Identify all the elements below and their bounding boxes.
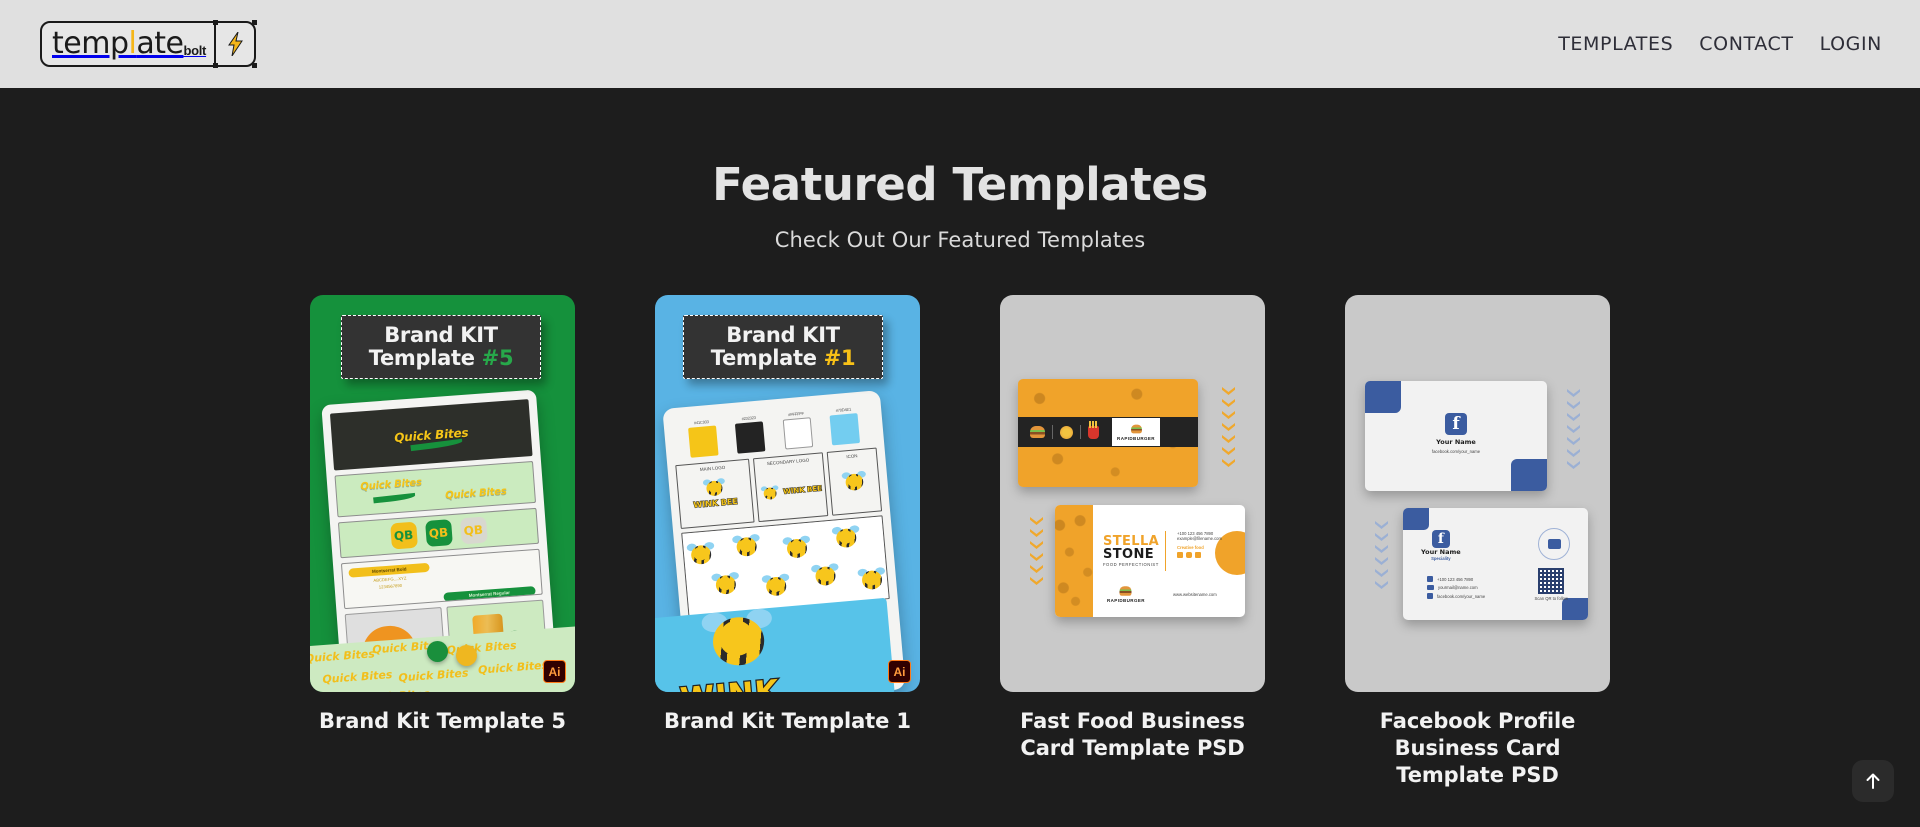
brand-name-variant-a: Quick Bites bbox=[360, 477, 422, 492]
bee-icon bbox=[701, 611, 776, 671]
template-thumbnail-brand-kit-1[interactable]: #41C933 #232323 #FFFFFF #70D4E1 bbox=[655, 295, 920, 692]
website-url: www.websitename.com bbox=[1173, 592, 1217, 597]
social-label: Creative food bbox=[1177, 545, 1222, 550]
typography-row: Montserrat Bold ABCDEFG....XYZ 123456789… bbox=[341, 549, 543, 609]
brand-logo-box: RAPIDBURGER bbox=[1112, 418, 1160, 446]
kit-plate-line1: Brand KIT bbox=[348, 324, 534, 347]
business-card-front: f Your Name facebook.com/your_name bbox=[1365, 381, 1547, 491]
chevron-column-up bbox=[1030, 517, 1043, 585]
template-card-grid: Quick Bites Quick Bites Quick Bites QB Q… bbox=[0, 295, 1920, 789]
twitter-icon bbox=[1195, 552, 1201, 558]
template-thumbnail-fast-food-card[interactable]: RAPIDBURGER STELLA STONE FOOD PERFECTION… bbox=[1000, 295, 1265, 692]
bee-icon bbox=[703, 479, 726, 498]
facebook-icon bbox=[1427, 593, 1433, 599]
front-handle: facebook.com/your_name bbox=[1432, 449, 1480, 454]
pattern-word: Quick Bites bbox=[359, 687, 430, 692]
logo-subscript: bolt bbox=[183, 43, 206, 58]
blanket-brand-word: WINK bbox=[679, 673, 781, 692]
color-dot-gold bbox=[456, 645, 477, 666]
icon-box: ICON bbox=[826, 448, 882, 516]
burger-icon bbox=[1030, 426, 1045, 438]
page-title: Featured Templates bbox=[0, 158, 1920, 211]
kit-plate-line2: Template bbox=[369, 346, 482, 370]
logo-text-part1: temp bbox=[52, 26, 129, 61]
brand-name-main: WINK BEE bbox=[693, 497, 738, 510]
logo-wordmark: template bbox=[52, 29, 185, 59]
facebook-icon: f bbox=[1432, 530, 1450, 548]
lightning-bolt-icon bbox=[214, 23, 254, 65]
brand-name: RAPIDBURGER bbox=[1117, 436, 1155, 441]
email-address: example@filename.com bbox=[1177, 536, 1222, 541]
bee-icon bbox=[761, 485, 780, 500]
back-social: facebook.com/your_name bbox=[1437, 594, 1485, 599]
back-phone: +100 123 456 7890 bbox=[1437, 577, 1473, 582]
back-role: Speciality bbox=[1431, 556, 1451, 561]
pattern-word: Quick Bites bbox=[478, 659, 549, 677]
template-card[interactable]: f Your Name facebook.com/your_name f You… bbox=[1345, 295, 1610, 789]
logo-mark-tile-green: QB bbox=[425, 519, 453, 547]
color-swatch: #70D4E1 bbox=[829, 406, 860, 445]
adobe-illustrator-badge: Ai bbox=[543, 660, 566, 683]
front-name: Your Name bbox=[1436, 438, 1476, 446]
logo-mark-tile-gray: QB bbox=[459, 517, 487, 545]
facebook-icon bbox=[1177, 552, 1183, 558]
person-role: FOOD PERFECTIONIST bbox=[1103, 562, 1159, 567]
chevron-column-down bbox=[1567, 389, 1580, 469]
adobe-illustrator-badge: Ai bbox=[888, 660, 911, 683]
template-thumbnail-facebook-card[interactable]: f Your Name facebook.com/your_name f You… bbox=[1345, 295, 1610, 692]
secondary-logo-label: SECONDARY LOGO bbox=[754, 456, 822, 467]
kit-plate-line1: Brand KIT bbox=[690, 324, 876, 347]
kit-plate-line2: Template bbox=[711, 346, 824, 370]
template-card[interactable]: RAPIDBURGER STELLA STONE FOOD PERFECTION… bbox=[1000, 295, 1265, 789]
brand-name-variant-b: Quick Bites bbox=[445, 486, 507, 501]
kit-plate-number: #1 bbox=[824, 346, 856, 370]
main-navigation: TEMPLATES CONTACT LOGIN bbox=[1558, 33, 1882, 55]
chevron-column-down bbox=[1222, 387, 1235, 467]
pattern-word: Quick Bites bbox=[310, 647, 375, 665]
color-swatch: #FFFFFF bbox=[782, 410, 813, 449]
leaf-swoosh-icon bbox=[373, 493, 415, 504]
brand-kit-title-plate: Brand KIT Template #5 bbox=[341, 315, 541, 379]
nav-link-templates[interactable]: TEMPLATES bbox=[1558, 33, 1673, 55]
accent-square bbox=[1562, 598, 1588, 620]
logo-variants-row: Quick Bites Quick Bites bbox=[334, 461, 536, 517]
camera-icon bbox=[1548, 539, 1561, 549]
bee-icon bbox=[841, 471, 867, 492]
person-last-name: STONE bbox=[1103, 548, 1159, 562]
qr-caption: Scan QR to follow bbox=[1534, 596, 1568, 601]
mail-icon bbox=[1427, 585, 1434, 590]
nav-link-login[interactable]: LOGIN bbox=[1820, 33, 1882, 55]
fries-icon bbox=[1088, 426, 1099, 439]
back-email: yourmail@name.com bbox=[1438, 585, 1478, 590]
pattern-word: Quick Bites bbox=[398, 666, 469, 684]
phone-icon bbox=[1427, 576, 1433, 582]
business-card-back: f Your Name Speciality +100 123 456 7890… bbox=[1403, 508, 1588, 620]
template-card-title: Brand Kit Template 1 bbox=[655, 708, 920, 735]
hero-banner-row: Quick Bites bbox=[330, 399, 533, 470]
pizza-icon bbox=[1060, 426, 1073, 439]
template-card-title: Fast Food Business Card Template PSD bbox=[1000, 708, 1265, 762]
business-card-back: RAPIDBURGER bbox=[1018, 379, 1198, 487]
secondary-logo-box: SECONDARY LOGO WINK BEE bbox=[753, 452, 828, 522]
template-card[interactable]: #41C933 #232323 #FFFFFF #70D4E1 bbox=[655, 295, 920, 789]
logo-text-part2: ate bbox=[136, 26, 183, 61]
template-card-title: Brand Kit Template 5 bbox=[310, 708, 575, 735]
burger-icon bbox=[1131, 425, 1142, 434]
photo-placeholder bbox=[1538, 528, 1570, 560]
template-card[interactable]: Quick Bites Quick Bites Quick Bites QB Q… bbox=[310, 295, 575, 789]
color-swatch: #232323 bbox=[735, 414, 766, 453]
brand-name: RAPIDBURGER bbox=[1107, 598, 1145, 603]
nav-link-contact[interactable]: CONTACT bbox=[1699, 33, 1793, 55]
chevron-column-up bbox=[1375, 521, 1388, 589]
pattern-word: Quick Bites bbox=[322, 668, 393, 686]
facebook-icon: f bbox=[1445, 413, 1467, 435]
brand-name-secondary: WINK BEE bbox=[783, 484, 823, 495]
icon-box-label: ICON bbox=[828, 452, 877, 461]
burger-icon bbox=[1120, 586, 1132, 596]
template-card-title: Facebook Profile Business Card Template … bbox=[1345, 708, 1610, 789]
template-thumbnail-brand-kit-5[interactable]: Quick Bites Quick Bites Quick Bites QB Q… bbox=[310, 295, 575, 692]
back-name: Your Name bbox=[1421, 548, 1461, 556]
brand-kit-title-plate: Brand KIT Template #1 bbox=[683, 315, 883, 379]
kit-plate-number: #5 bbox=[482, 346, 514, 370]
color-swatch: #41C933 bbox=[687, 419, 718, 458]
page-subtitle: Check Out Our Featured Templates bbox=[0, 228, 1920, 252]
logo-mark-tile-gold: QB bbox=[390, 522, 418, 550]
font-chip-secondary: Montserrat Regular bbox=[443, 586, 536, 602]
scroll-to-top-button[interactable] bbox=[1852, 760, 1894, 802]
accent-square bbox=[1403, 508, 1429, 530]
main-logo-label: MAIN LOGO bbox=[677, 463, 749, 474]
site-header: template bolt TEMPLATES CONTACT LOGIN bbox=[0, 0, 1920, 88]
accent-square bbox=[1365, 381, 1401, 413]
accent-square bbox=[1511, 459, 1547, 491]
business-card-front: STELLA STONE FOOD PERFECTIONIST +100 123… bbox=[1055, 505, 1245, 617]
site-logo[interactable]: template bolt bbox=[40, 21, 256, 67]
qr-code bbox=[1538, 568, 1564, 594]
featured-templates-section: Featured Templates Check Out Our Feature… bbox=[0, 88, 1920, 827]
main-logo-box: MAIN LOGO WINK BEE bbox=[675, 459, 754, 529]
instagram-icon bbox=[1186, 552, 1192, 558]
color-dot-green bbox=[427, 641, 448, 662]
arrow-up-icon bbox=[1864, 772, 1882, 790]
